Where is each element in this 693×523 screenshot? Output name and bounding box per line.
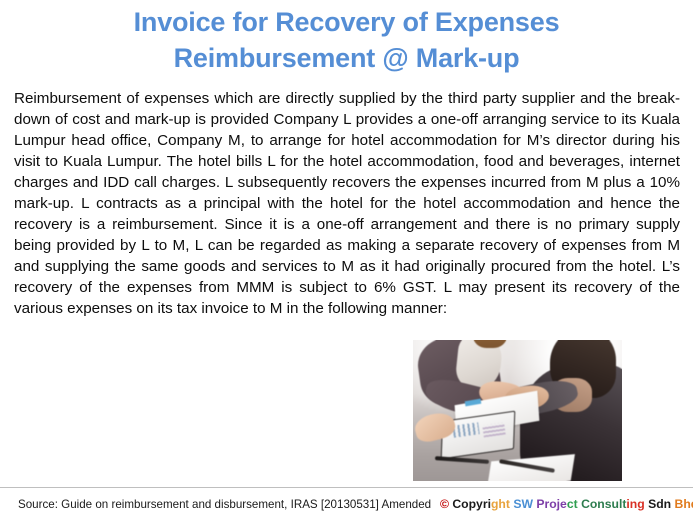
copyright-segment-2: ght: [491, 497, 510, 511]
copyright-segment-1: Copyri: [449, 497, 491, 511]
title-line-2: Reimbursement @ Mark-up: [0, 40, 693, 76]
footer-divider: [0, 487, 693, 488]
copyright-segment-9: Consult: [581, 497, 626, 511]
copyright-segment-0: ©: [440, 497, 449, 511]
copyright-segment-12: Sdn: [648, 497, 671, 511]
handshake-photo: [413, 340, 622, 481]
body-paragraph: Reimbursement of expenses which are dire…: [14, 88, 680, 319]
copyright-segment-10: ing: [626, 497, 644, 511]
page-title: Invoice for Recovery of Expenses Reimbur…: [0, 4, 693, 76]
copyright-segment-6: Proje: [536, 497, 566, 511]
copyright-segment-7: ct: [567, 497, 578, 511]
title-line-1: Invoice for Recovery of Expenses: [0, 4, 693, 40]
copyright-segment-4: SW: [513, 497, 533, 511]
photo-pen-1: [435, 456, 489, 464]
copyright-segment-14: Bhd: [675, 497, 693, 511]
footer-copyright: © Copyright SW Project Consulting Sdn Bh…: [440, 497, 693, 512]
photo-backdrop: [413, 340, 622, 481]
body-content: Reimbursement of expenses which are dire…: [14, 88, 680, 319]
slide-canvas: Invoice for Recovery of Expenses Reimbur…: [0, 0, 693, 523]
footer-source-text: Source: Guide on reimbursement and disbu…: [18, 497, 431, 512]
